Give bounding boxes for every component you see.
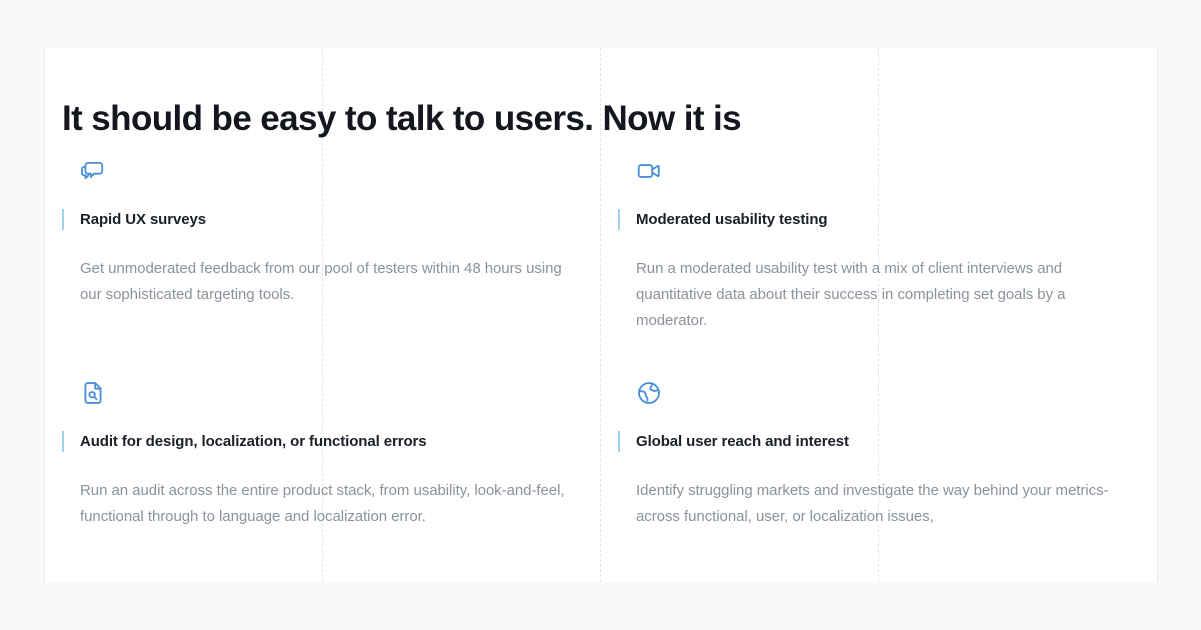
feature-description: Run a moderated usability test with a mi… — [636, 256, 1128, 334]
feature-title: Rapid UX surveys — [80, 211, 206, 228]
globe-icon — [636, 380, 662, 406]
feature-title: Global user reach and interest — [636, 433, 849, 450]
feature-card-rapid-ux-surveys: Rapid UX surveys Get unmoderated feedbac… — [62, 158, 582, 323]
page-title: It should be easy to talk to users. Now … — [62, 97, 1062, 141]
chat-bubbles-icon — [80, 158, 106, 184]
accent-bar — [62, 431, 64, 452]
feature-card-audit: Audit for design, localization, or funct… — [62, 380, 582, 545]
accent-bar — [62, 209, 64, 230]
feature-description: Run an audit across the entire product s… — [80, 478, 580, 530]
feature-title-row: Rapid UX surveys — [62, 208, 582, 230]
file-search-icon — [80, 380, 106, 406]
feature-card-moderated-usability-testing: Moderated usability testing Run a modera… — [618, 158, 1138, 349]
feature-title-row: Global user reach and interest — [618, 430, 1138, 452]
accent-bar — [618, 209, 620, 230]
feature-title-row: Audit for design, localization, or funct… — [62, 430, 582, 452]
feature-card-global-reach: Global user reach and interest Identify … — [618, 380, 1138, 545]
accent-bar — [618, 431, 620, 452]
feature-description: Get unmoderated feedback from our pool o… — [80, 256, 580, 308]
feature-title: Audit for design, localization, or funct… — [80, 433, 427, 450]
feature-title-row: Moderated usability testing — [618, 208, 1138, 230]
feature-description: Identify struggling markets and investig… — [636, 478, 1128, 530]
video-camera-icon — [636, 158, 662, 184]
feature-title: Moderated usability testing — [636, 211, 828, 228]
page-root: It should be easy to talk to users. Now … — [0, 0, 1201, 630]
feature-grid: Rapid UX surveys Get unmoderated feedbac… — [44, 158, 1158, 578]
